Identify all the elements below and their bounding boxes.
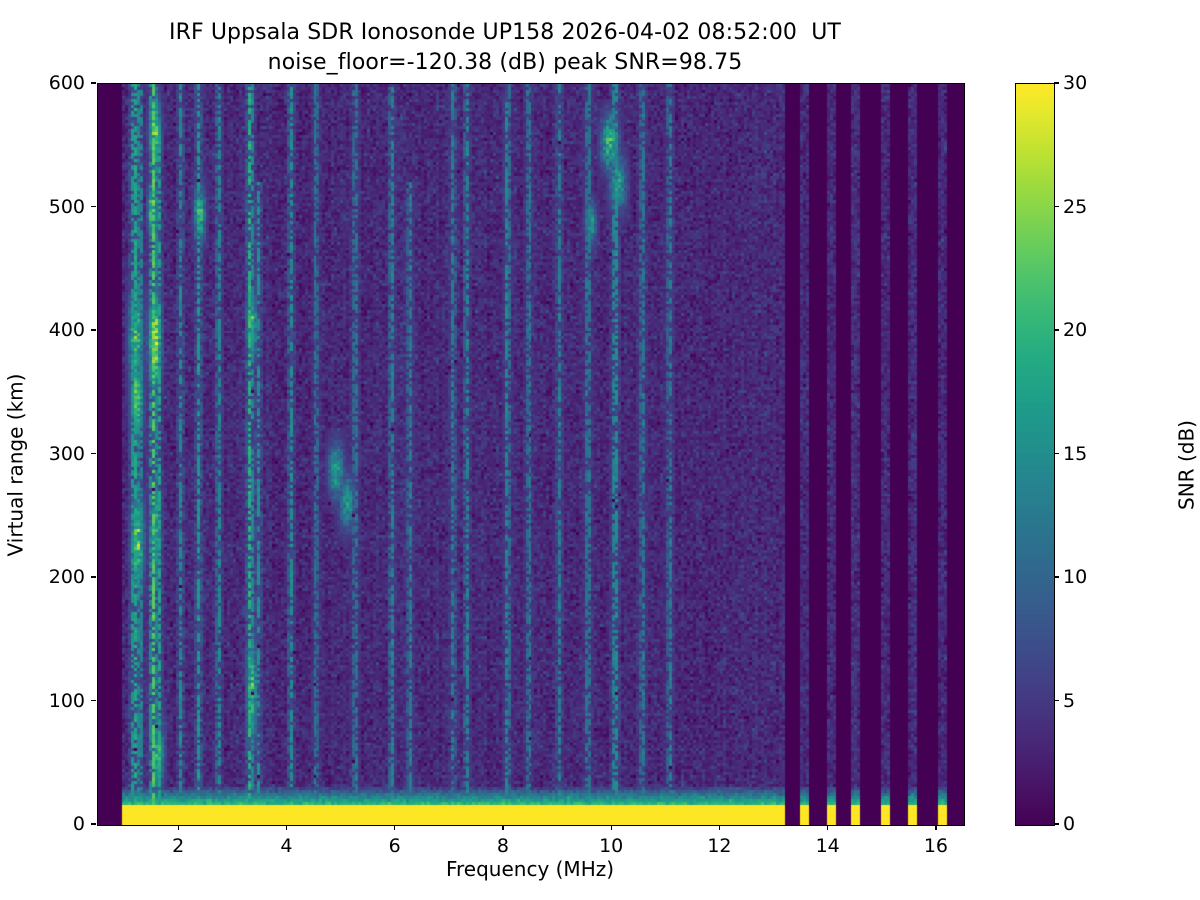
- ionogram-plot-area[interactable]: [97, 83, 965, 826]
- colorbar-tick-mark: [1054, 576, 1059, 577]
- y-tick-mark: [91, 576, 96, 577]
- colorbar-tick-label: 25: [1063, 196, 1087, 218]
- colorbar-title: SNR (dB): [1175, 95, 1199, 836]
- x-tick-mark: [719, 825, 720, 830]
- colorbar-tick-mark: [1054, 206, 1059, 207]
- colorbar-tick-label: 5: [1063, 690, 1075, 712]
- title-line-1: IRF Uppsala SDR Ionosonde UP158 2026-04-…: [0, 18, 1010, 48]
- title-line-2: noise_floor=-120.38 (dB) peak SNR=98.75: [0, 48, 1010, 78]
- y-tick-mark: [91, 700, 96, 701]
- x-tick-mark: [286, 825, 287, 830]
- x-axis-title: Frequency (MHz): [97, 857, 963, 881]
- x-tick-label: 2: [172, 835, 184, 857]
- x-tick-mark: [502, 825, 503, 830]
- colorbar[interactable]: [1015, 83, 1055, 826]
- x-tick-mark: [611, 825, 612, 830]
- y-tick-mark: [91, 206, 96, 207]
- y-tick-mark: [91, 329, 96, 330]
- y-tick-label: 600: [7, 72, 85, 94]
- colorbar-tick-mark: [1054, 453, 1059, 454]
- colorbar-tick-label: 0: [1063, 813, 1075, 835]
- x-tick-label: 12: [707, 835, 731, 857]
- colorbar-tick-label: 20: [1063, 319, 1087, 341]
- colorbar-tick-mark: [1054, 82, 1059, 83]
- ionogram-figure: IRF Uppsala SDR Ionosonde UP158 2026-04-…: [0, 0, 1200, 900]
- x-tick-label: 8: [497, 835, 509, 857]
- colorbar-tick-mark: [1054, 700, 1059, 701]
- colorbar-gradient: [1016, 84, 1054, 825]
- x-tick-label: 16: [924, 835, 948, 857]
- colorbar-tick-mark: [1054, 329, 1059, 330]
- colorbar-tick-mark: [1054, 823, 1059, 824]
- colorbar-tick-label: 10: [1063, 566, 1087, 588]
- colorbar-tick-label: 30: [1063, 72, 1087, 94]
- ionogram-heatmap[interactable]: [98, 84, 964, 825]
- figure-title: IRF Uppsala SDR Ionosonde UP158 2026-04-…: [0, 18, 1010, 78]
- x-tick-label: 14: [816, 835, 840, 857]
- y-tick-mark: [91, 453, 96, 454]
- y-tick-mark: [91, 82, 96, 83]
- x-tick-label: 6: [389, 835, 401, 857]
- x-tick-mark: [827, 825, 828, 830]
- y-axis-title: Virtual range (km): [4, 95, 28, 836]
- x-tick-mark: [935, 825, 936, 830]
- colorbar-tick-label: 15: [1063, 443, 1087, 465]
- x-tick-mark: [178, 825, 179, 830]
- x-tick-label: 10: [599, 835, 623, 857]
- x-tick-mark: [394, 825, 395, 830]
- x-tick-label: 4: [280, 835, 292, 857]
- y-tick-mark: [91, 823, 96, 824]
